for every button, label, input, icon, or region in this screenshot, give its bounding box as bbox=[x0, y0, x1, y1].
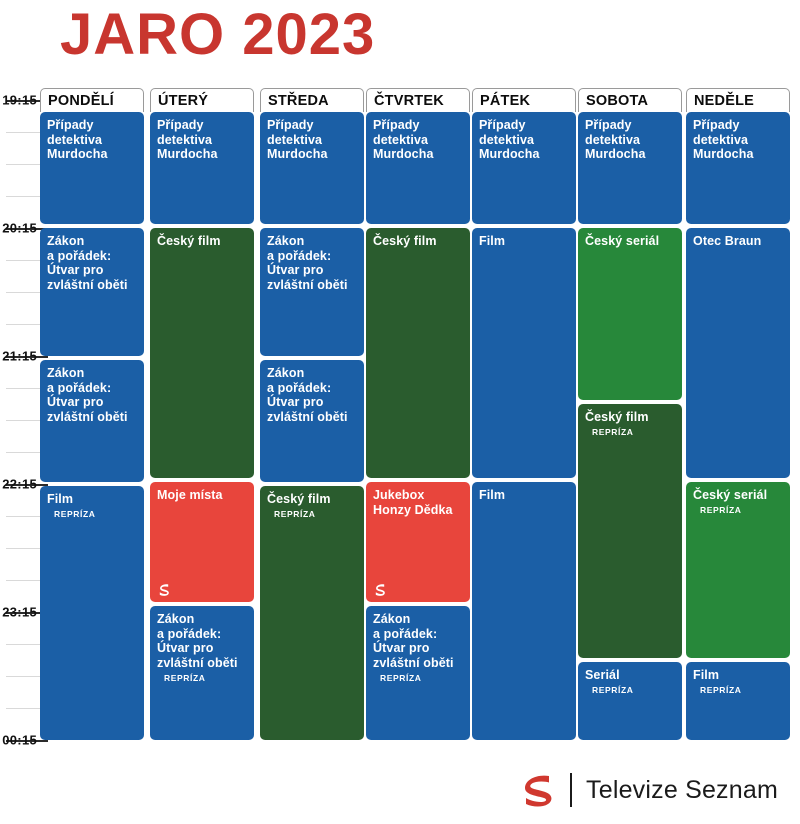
time-label: 20:15 bbox=[2, 221, 37, 236]
program-block[interactable]: Případy detektiva Murdocha bbox=[260, 112, 364, 224]
program-block[interactable]: Český seriál bbox=[578, 228, 682, 400]
time-label: 21:15 bbox=[2, 349, 37, 364]
program-block[interactable]: Český film bbox=[366, 228, 470, 478]
program-block[interactable]: Zákon a pořádek: Útvar pro zvláštní obět… bbox=[260, 228, 364, 356]
footer-brand-name: Televize Seznam bbox=[586, 776, 778, 805]
program-block[interactable]: Český filmREPRÍZA bbox=[578, 404, 682, 658]
day-header[interactable]: SOBOTA bbox=[578, 88, 682, 112]
time-label: 00:15 bbox=[2, 733, 37, 748]
day-header[interactable]: PÁTEK bbox=[472, 88, 576, 112]
program-block[interactable]: Případy detektiva Murdocha bbox=[578, 112, 682, 224]
repriza-badge: REPRÍZA bbox=[592, 427, 675, 437]
program-title: Seriál bbox=[585, 668, 675, 683]
program-list: Případy detektiva MurdochaČeský seriálČe… bbox=[578, 112, 682, 740]
seznam-s-icon bbox=[374, 582, 386, 597]
program-block[interactable]: Případy detektiva Murdocha bbox=[366, 112, 470, 224]
program-block[interactable]: Zákon a pořádek: Útvar pro zvláštní obět… bbox=[366, 606, 470, 740]
program-title: Český film bbox=[267, 492, 357, 507]
program-title: Případy detektiva Murdocha bbox=[585, 118, 675, 162]
program-title: Zákon a pořádek: Útvar pro zvláštní obět… bbox=[157, 612, 247, 671]
program-block[interactable]: Případy detektiva Murdocha bbox=[686, 112, 790, 224]
program-title: Český film bbox=[585, 410, 675, 425]
program-block[interactable]: Případy detektiva Murdocha bbox=[472, 112, 576, 224]
schedule-grid: 19:1520:1521:1522:1523:1500:15 PONDĚLÍPř… bbox=[0, 88, 800, 740]
program-block[interactable]: FilmREPRÍZA bbox=[686, 662, 790, 740]
program-block[interactable]: Český seriálREPRÍZA bbox=[686, 482, 790, 658]
program-block[interactable]: Případy detektiva Murdocha bbox=[40, 112, 144, 224]
repriza-badge: REPRÍZA bbox=[274, 509, 357, 519]
repriza-badge: REPRÍZA bbox=[164, 673, 247, 683]
program-title: Otec Braun bbox=[693, 234, 783, 249]
repriza-badge: REPRÍZA bbox=[54, 509, 137, 519]
program-block[interactable]: Případy detektiva Murdocha bbox=[150, 112, 254, 224]
program-title: Film bbox=[479, 488, 569, 503]
program-block[interactable]: FilmREPRÍZA bbox=[40, 486, 144, 740]
program-title: Moje místa bbox=[157, 488, 247, 503]
program-title: Případy detektiva Murdocha bbox=[47, 118, 137, 162]
page-title: JARO 2023 bbox=[60, 6, 375, 64]
program-title: Případy detektiva Murdocha bbox=[479, 118, 569, 162]
program-block[interactable]: Zákon a pořádek: Útvar pro zvláštní obět… bbox=[150, 606, 254, 740]
footer-branding: Televize Seznam bbox=[0, 756, 800, 824]
time-label: 23:15 bbox=[2, 605, 37, 620]
program-title: Film bbox=[47, 492, 137, 507]
repriza-badge: REPRÍZA bbox=[700, 685, 783, 695]
program-title: Případy detektiva Murdocha bbox=[267, 118, 357, 162]
day-header[interactable]: NEDĚLE bbox=[686, 88, 790, 112]
day-header[interactable]: STŘEDA bbox=[260, 88, 364, 112]
program-list: Případy detektiva MurdochaZákon a pořáde… bbox=[40, 112, 144, 740]
program-list: Případy detektiva MurdochaOtec BraunČesk… bbox=[686, 112, 790, 740]
repriza-badge: REPRÍZA bbox=[592, 685, 675, 695]
program-block[interactable]: Zákon a pořádek: Útvar pro zvláštní obět… bbox=[40, 360, 144, 482]
program-title: Zákon a pořádek: Útvar pro zvláštní obět… bbox=[373, 612, 463, 671]
repriza-badge: REPRÍZA bbox=[380, 673, 463, 683]
program-block[interactable]: SeriálREPRÍZA bbox=[578, 662, 682, 740]
time-axis: 19:1520:1521:1522:1523:1500:15 bbox=[0, 88, 40, 740]
program-block[interactable]: Film bbox=[472, 482, 576, 740]
program-list: Případy detektiva MurdochaČeský filmMoje… bbox=[150, 112, 254, 740]
program-title: Zákon a pořádek: Útvar pro zvláštní obět… bbox=[47, 234, 137, 293]
program-block[interactable]: Zákon a pořádek: Útvar pro zvláštní obět… bbox=[260, 360, 364, 482]
program-title: Film bbox=[479, 234, 569, 249]
program-list: Případy detektiva MurdochaZákon a pořáde… bbox=[260, 112, 364, 740]
program-title: Případy detektiva Murdocha bbox=[693, 118, 783, 162]
program-title: Zákon a pořádek: Útvar pro zvláštní obět… bbox=[47, 366, 137, 425]
footer-divider bbox=[570, 773, 572, 807]
program-title: Film bbox=[693, 668, 783, 683]
program-block[interactable]: Otec Braun bbox=[686, 228, 790, 478]
program-title: Český film bbox=[373, 234, 463, 249]
day-header[interactable]: ÚTERÝ bbox=[150, 88, 254, 112]
program-list: Případy detektiva MurdochaFilmFilm bbox=[472, 112, 576, 740]
program-title: Český seriál bbox=[693, 488, 783, 503]
program-title: Zákon a pořádek: Útvar pro zvláštní obět… bbox=[267, 234, 357, 293]
program-title: Jukebox Honzy Dědka bbox=[373, 488, 463, 517]
program-title: Zákon a pořádek: Útvar pro zvláštní obět… bbox=[267, 366, 357, 425]
program-block[interactable]: Film bbox=[472, 228, 576, 478]
program-title: Český film bbox=[157, 234, 247, 249]
program-title: Případy detektiva Murdocha bbox=[157, 118, 247, 162]
day-header[interactable]: ČTVRTEK bbox=[366, 88, 470, 112]
time-label: 22:15 bbox=[2, 477, 37, 492]
program-block[interactable]: Moje místa bbox=[150, 482, 254, 602]
seznam-s-icon bbox=[518, 770, 558, 810]
program-block[interactable]: Jukebox Honzy Dědka bbox=[366, 482, 470, 602]
day-header[interactable]: PONDĚLÍ bbox=[40, 88, 144, 112]
seznam-s-icon bbox=[158, 582, 170, 597]
program-list: Případy detektiva MurdochaČeský filmJuke… bbox=[366, 112, 470, 740]
program-block[interactable]: Český filmREPRÍZA bbox=[260, 486, 364, 740]
program-title: Případy detektiva Murdocha bbox=[373, 118, 463, 162]
repriza-badge: REPRÍZA bbox=[700, 505, 783, 515]
program-block[interactable]: Zákon a pořádek: Útvar pro zvláštní obět… bbox=[40, 228, 144, 356]
program-block[interactable]: Český film bbox=[150, 228, 254, 478]
time-label: 19:15 bbox=[2, 93, 37, 108]
program-title: Český seriál bbox=[585, 234, 675, 249]
